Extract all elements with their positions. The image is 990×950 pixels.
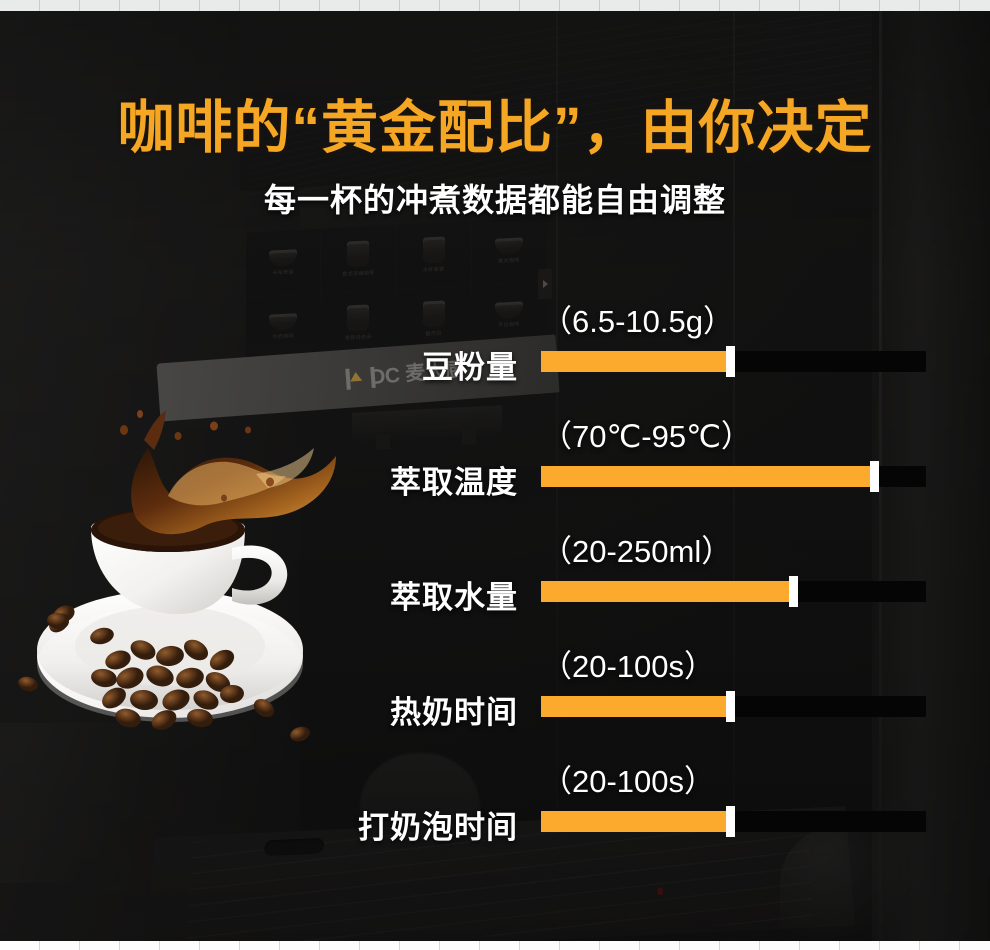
brew-parameter-row: （20-100s） 热奶时间 [0, 641, 990, 756]
slider-fill [541, 466, 872, 487]
slider-fill [541, 581, 791, 602]
slider-track-milk-heating-time[interactable] [541, 696, 926, 717]
bottom-strip-ticks [0, 941, 990, 950]
page-top-strip [0, 0, 990, 11]
slider-thumb[interactable] [726, 806, 735, 837]
brew-parameter-list: （6.5-10.5g） 豆粉量 （70℃-95℃） 萃取温度 （20-250ml… [0, 296, 990, 871]
slider-track-ground-coffee[interactable] [541, 351, 926, 372]
parameter-name-label: 萃取水量 [0, 572, 518, 617]
slider-track-brew-water-volume[interactable] [541, 581, 926, 602]
slider-track-brew-temperature[interactable] [541, 466, 926, 487]
brew-parameter-row: （70℃-95℃） 萃取温度 [0, 411, 990, 526]
page-title: 咖啡的“黄金配比”，由你决定 [0, 82, 990, 164]
slider-fill [541, 811, 728, 832]
parameter-range-label: （20-100s） [541, 756, 715, 801]
page-bottom-strip [0, 941, 990, 950]
slider-thumb[interactable] [726, 346, 735, 377]
product-detail-page: 卡布奇诺 意式浓缩咖啡 大杯拿铁 美式咖啡 牛奶咖啡 拿铁玛奇朵 [0, 0, 990, 950]
slider-fill [541, 351, 728, 372]
parameter-name-label: 热奶时间 [0, 687, 518, 732]
brew-parameter-row: （6.5-10.5g） 豆粉量 [0, 296, 990, 411]
page-subtitle: 每一杯的冲煮数据都能自由调整 [0, 175, 990, 221]
parameter-name-label: 豆粉量 [0, 342, 518, 387]
parameter-range-label: （70℃-95℃） [541, 411, 752, 456]
slider-track-milk-frothing-time[interactable] [541, 811, 926, 832]
slider-thumb[interactable] [870, 461, 879, 492]
brew-parameter-row: （20-250ml） 萃取水量 [0, 526, 990, 641]
parameter-name-label: 萃取温度 [0, 457, 518, 502]
slider-thumb[interactable] [789, 576, 798, 607]
parameter-name-label: 打奶泡时间 [0, 802, 518, 847]
top-strip-ticks [0, 0, 990, 11]
slider-fill [541, 696, 728, 717]
parameter-range-label: （20-100s） [541, 641, 715, 686]
parameter-range-label: （20-250ml） [541, 526, 732, 571]
slider-thumb[interactable] [726, 691, 735, 722]
parameter-range-label: （6.5-10.5g） [541, 296, 734, 341]
brew-parameter-row: （20-100s） 打奶泡时间 [0, 756, 990, 871]
